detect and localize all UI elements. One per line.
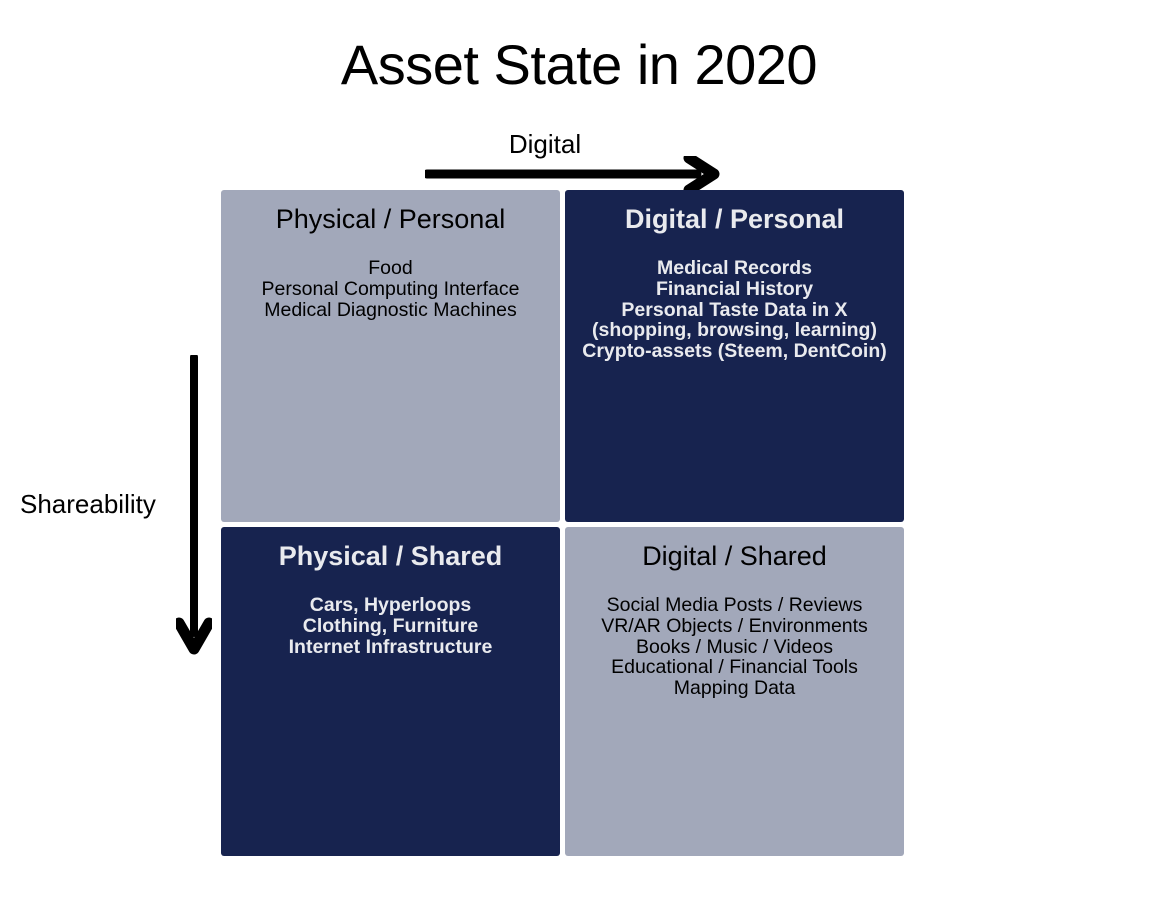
quadrant-heading: Physical / Shared: [229, 541, 552, 573]
list-item: Social Media Posts / Reviews: [573, 595, 896, 616]
list-item: (shopping, browsing, learning): [573, 320, 896, 341]
vertical-axis: Shareability: [8, 355, 220, 660]
list-item: VR/AR Objects / Environments: [573, 616, 896, 637]
list-item: Personal Taste Data in X: [573, 300, 896, 321]
list-item: Personal Computing Interface: [229, 279, 552, 300]
list-item: Mapping Data: [573, 678, 896, 699]
arrow-right-icon: [425, 156, 720, 192]
list-item: Books / Music / Videos: [573, 637, 896, 658]
quadrant-item-list: Food Personal Computing Interface Medica…: [229, 258, 552, 321]
quadrant-matrix: Physical / Personal Food Personal Comput…: [221, 190, 904, 856]
quadrant-heading: Digital / Shared: [573, 541, 896, 573]
list-item: Medical Diagnostic Machines: [229, 300, 552, 321]
quadrant-heading: Digital / Personal: [573, 204, 896, 236]
quadrant-digital-personal[interactable]: Digital / Personal Medical Records Finan…: [565, 190, 904, 522]
quadrant-item-list: Cars, Hyperloops Clothing, Furniture Int…: [229, 595, 552, 658]
quadrant-digital-shared[interactable]: Digital / Shared Social Media Posts / Re…: [565, 527, 904, 856]
quadrant-item-list: Medical Records Financial History Person…: [573, 258, 896, 362]
list-item: Internet Infrastructure: [229, 637, 552, 658]
list-item: Crypto-assets (Steem, DentCoin): [573, 341, 896, 362]
page-title: Asset State in 2020: [0, 34, 1158, 96]
horizontal-axis: Digital: [425, 130, 720, 192]
list-item: Medical Records: [573, 258, 896, 279]
quadrant-physical-shared[interactable]: Physical / Shared Cars, Hyperloops Cloth…: [221, 527, 560, 856]
vertical-axis-label: Shareability: [20, 490, 180, 520]
list-item: Financial History: [573, 279, 896, 300]
list-item: Cars, Hyperloops: [229, 595, 552, 616]
quadrant-physical-personal[interactable]: Physical / Personal Food Personal Comput…: [221, 190, 560, 522]
quadrant-item-list: Social Media Posts / Reviews VR/AR Objec…: [573, 595, 896, 699]
list-item: Educational / Financial Tools: [573, 657, 896, 678]
list-item: Food: [229, 258, 552, 279]
arrow-down-icon: [176, 355, 212, 655]
quadrant-heading: Physical / Personal: [229, 204, 552, 236]
list-item: Clothing, Furniture: [229, 616, 552, 637]
